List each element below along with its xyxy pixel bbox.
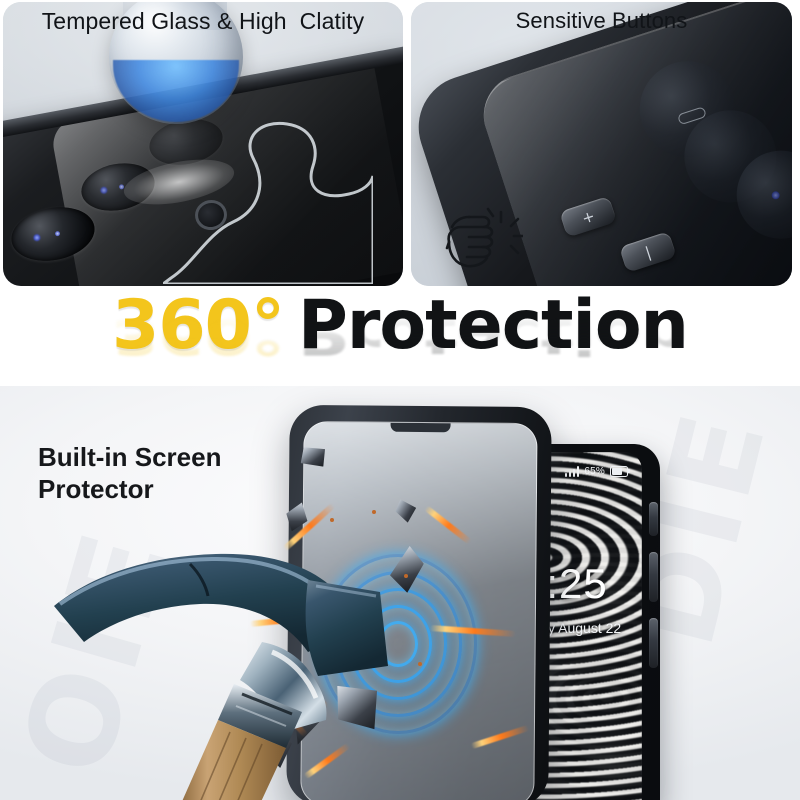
signal-bars-icon — [565, 466, 580, 477]
protective-film-cutout — [163, 114, 373, 284]
feature-panel-row: Tempered Glass & High Clatity + | — [0, 2, 800, 286]
volume-up-button[interactable] — [649, 552, 658, 602]
lens-reflection — [771, 190, 781, 200]
hero-impact-scene: OIE DIE Built-in Screen Protector 65% 4:… — [0, 386, 800, 800]
battery-icon — [610, 466, 628, 477]
battery-percent: 65% — [584, 466, 605, 477]
feature-panel-sensitive-buttons[interactable]: + | — [411, 2, 792, 286]
hero-label-line1: Built-in Screen — [38, 442, 221, 474]
lens-reflection — [54, 231, 60, 237]
product-feature-page: Tempered Glass & High Clatity + | — [0, 0, 800, 800]
spark-particle — [330, 518, 334, 522]
headline-word: Protection — [298, 286, 688, 365]
side-button-group[interactable] — [649, 502, 658, 684]
power-button[interactable] — [649, 502, 658, 536]
tap-hand-icon — [439, 202, 523, 278]
hero-label: Built-in Screen Protector — [38, 442, 221, 505]
sensitive-buttons-artwork: + | — [411, 2, 792, 286]
headline-degrees: 360° — [112, 286, 284, 365]
volume-down-button[interactable] — [649, 618, 658, 668]
lens-reflection — [33, 233, 41, 241]
panel-title-tempered-glass: Tempered Glass & High Clatity — [3, 8, 403, 35]
spark-particle — [404, 574, 408, 578]
lens-reflection — [100, 186, 108, 194]
earpiece-notch-icon — [391, 423, 451, 433]
spark-particle — [418, 662, 422, 666]
claw-hammer-icon — [40, 534, 390, 800]
hero-label-line2: Protector — [38, 474, 221, 506]
panel-title-sensitive-buttons: Sensitive Buttons — [411, 8, 792, 34]
tempered-glass-artwork — [3, 2, 403, 286]
headline-360-protection: 360°Protection 360°Protection — [0, 292, 800, 390]
spark-particle — [372, 510, 376, 514]
feature-panel-tempered-glass[interactable]: Tempered Glass & High Clatity — [3, 2, 403, 286]
